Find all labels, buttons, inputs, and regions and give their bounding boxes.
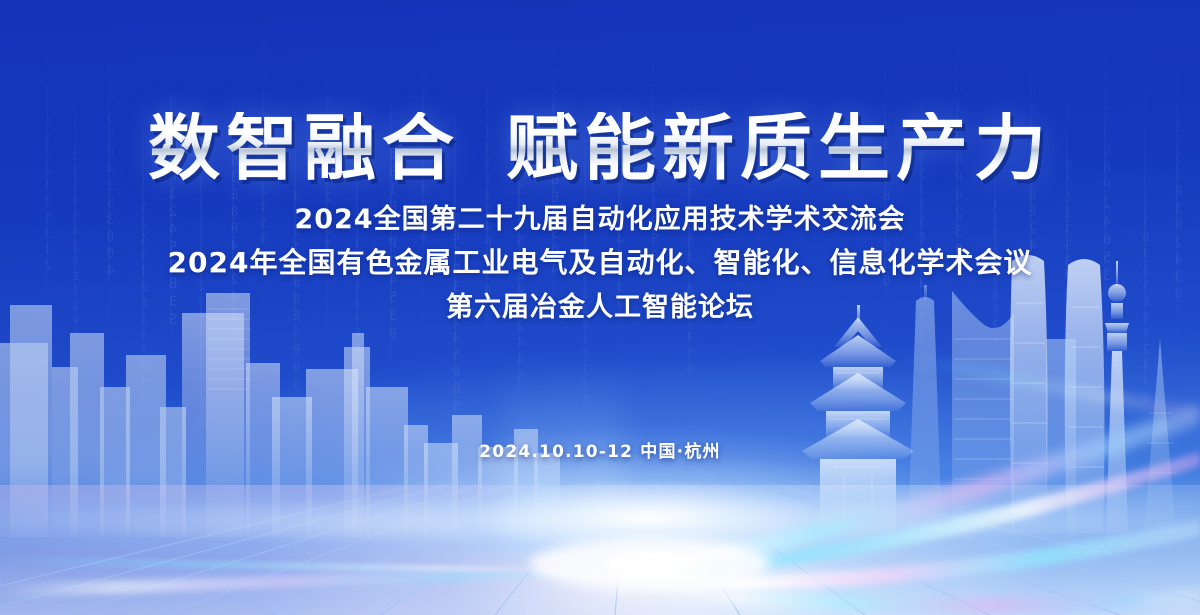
headline-part-1: 数智融合 — [148, 106, 460, 190]
subtitle-line-2: 2024年全国有色金属工业电气及自动化、智能化、信息化学术会议 — [0, 241, 1200, 286]
banner-content: 数智融合赋能新质生产力 2024全国第二十九届自动化应用技术学术交流会 2024… — [0, 0, 1200, 462]
headline-part-2: 赋能新质生产力 — [506, 106, 1052, 190]
conference-banner: 8135BESP24053123510542BES8P31B1S3EP42538… — [0, 0, 1200, 615]
subtitle-group: 2024全国第二十九届自动化应用技术学术交流会 2024年全国有色金属工业电气及… — [0, 199, 1200, 329]
date-location-text: 2024.10.10-12 中国·杭州 — [0, 437, 1200, 462]
subtitle-line-1: 2024全国第二十九届自动化应用技术学术交流会 — [0, 199, 1200, 241]
subtitle-line-3: 第六届冶金人工智能论坛 — [0, 286, 1200, 329]
banner-headline: 数智融合赋能新质生产力 — [0, 112, 1200, 185]
